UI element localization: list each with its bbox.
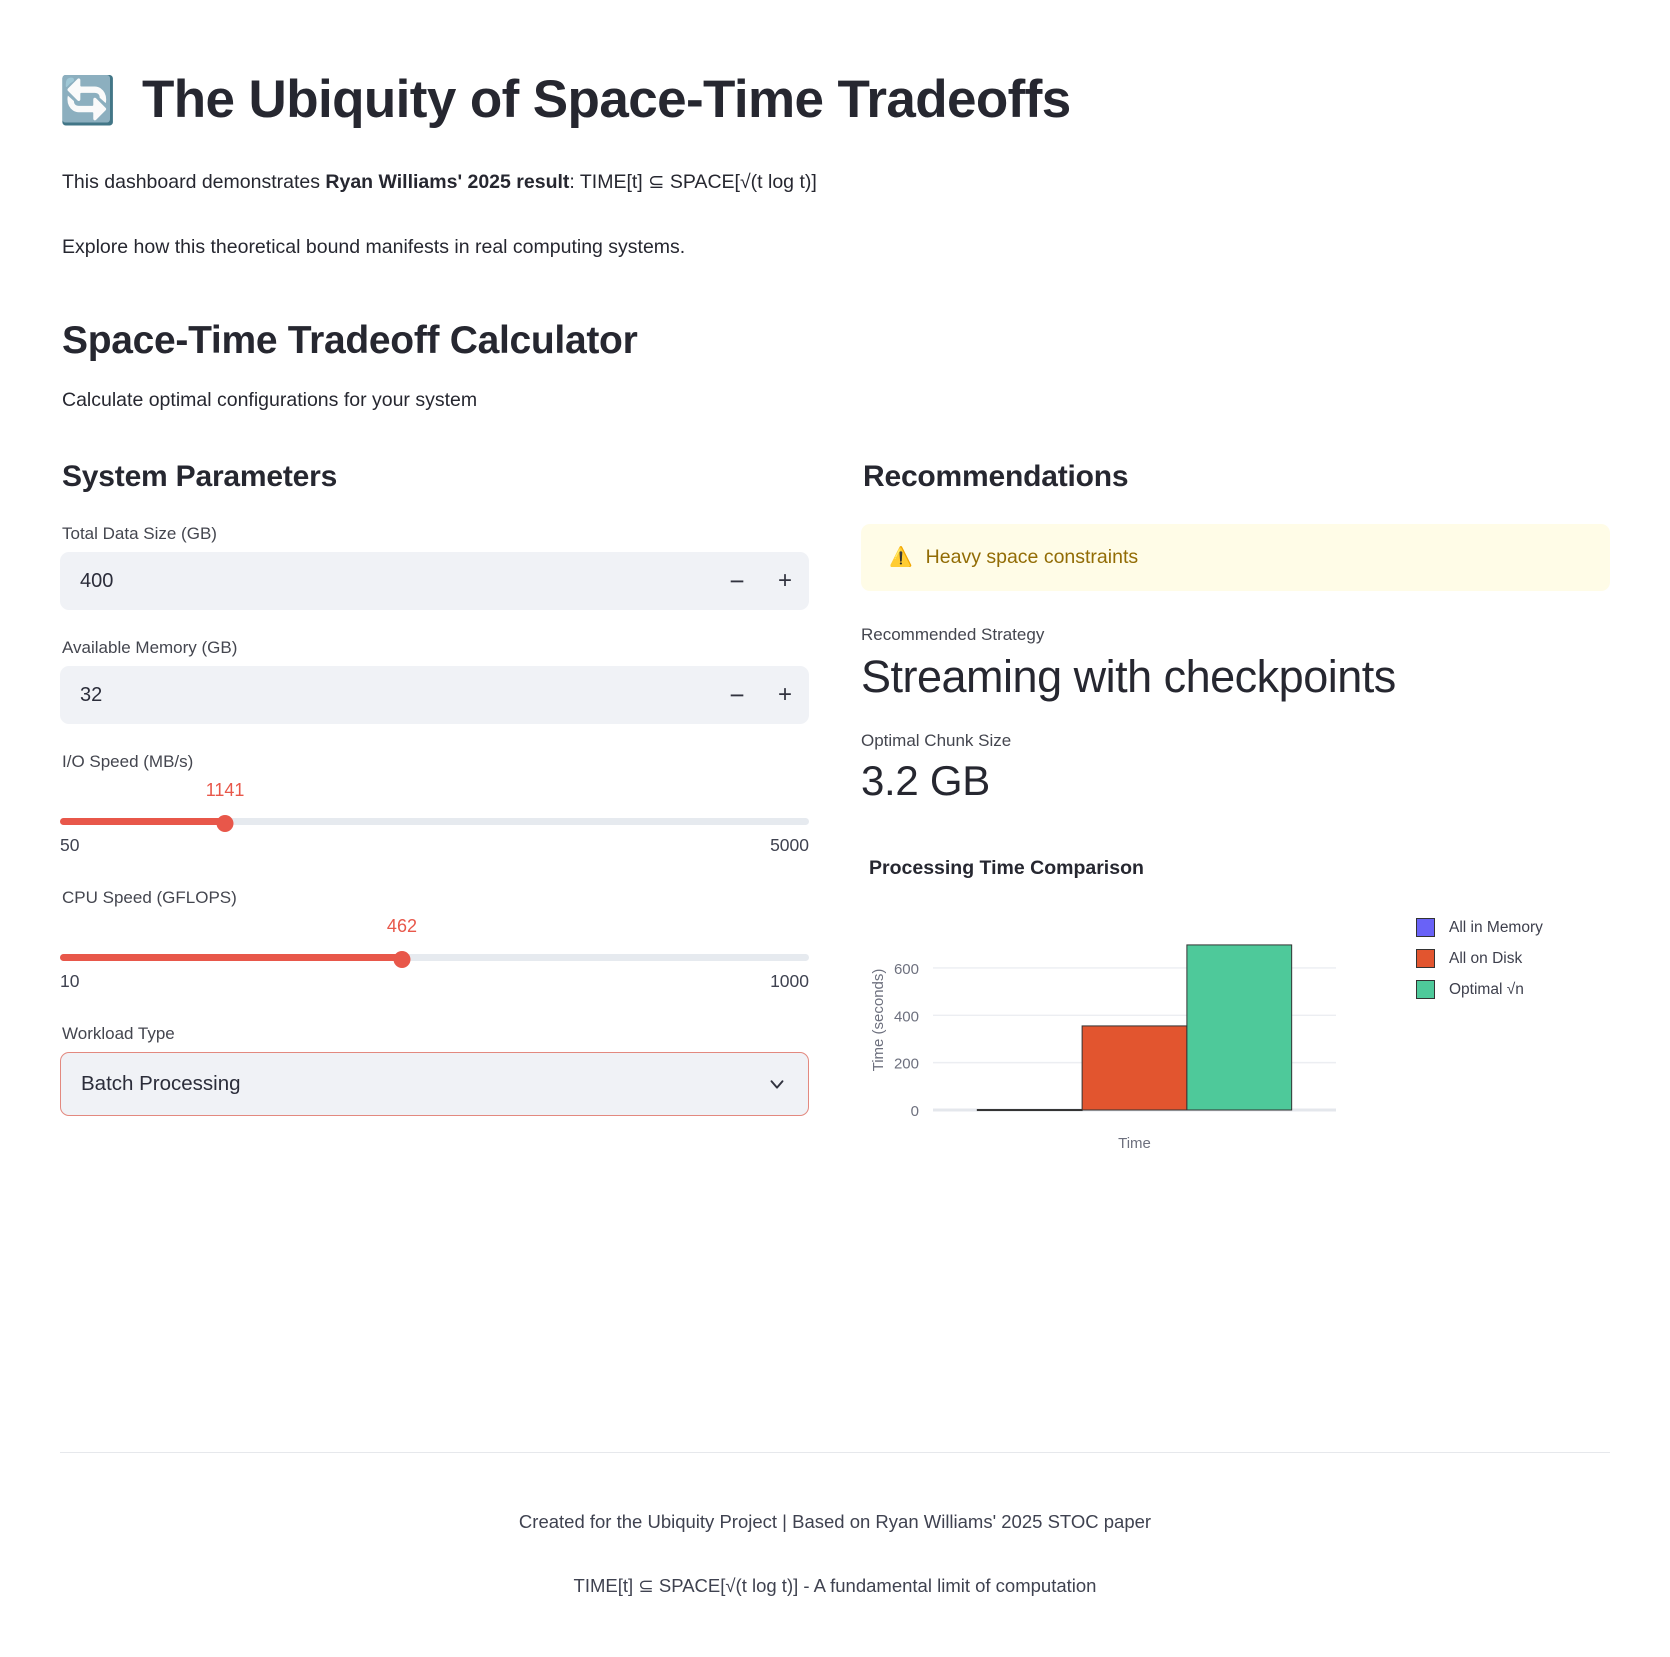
legend-label: All on Disk <box>1449 950 1522 968</box>
svg-text:200: 200 <box>894 1056 919 1073</box>
refresh-arrows-icon: 🔄 <box>60 72 116 128</box>
recommendations-column: Recommendations ⚠️ Heavy space constrain… <box>861 460 1610 1162</box>
footer-formula: TIME[t] ⊆ SPACE[√(t log t)] - A fundamen… <box>60 1575 1610 1597</box>
cpu-speed-fill <box>60 954 402 961</box>
calculator-title: Space-Time Tradeoff Calculator <box>62 319 1610 363</box>
system-parameters-column: System Parameters Total Data Size (GB) 4… <box>60 460 809 1162</box>
cpu-speed-track[interactable] <box>60 954 809 961</box>
io-speed-track[interactable] <box>60 818 809 825</box>
field-workload-type: Workload Type Batch Processing <box>60 1024 809 1116</box>
total-data-size-label: Total Data Size (GB) <box>62 524 809 544</box>
processing-time-chart-block: Processing Time Comparison 0200400600Tim… <box>861 857 1610 1162</box>
legend-label: Optimal √n <box>1449 981 1524 999</box>
field-io-speed: I/O Speed (MB/s) 1141 50 5000 <box>60 752 809 858</box>
title-row: 🔄 The Ubiquity of Space-Time Tradeoffs <box>60 70 1610 131</box>
legend-item[interactable]: All on Disk <box>1416 949 1543 968</box>
chart-area: 0200400600TimeTime (seconds) All in Memo… <box>861 912 1561 1162</box>
available-memory-label: Available Memory (GB) <box>62 638 809 658</box>
io-speed-label: I/O Speed (MB/s) <box>62 752 809 772</box>
io-speed-max-label: 5000 <box>770 835 809 856</box>
warning-triangle-icon: ⚠️ <box>889 548 913 567</box>
available-memory-input[interactable]: 32 <box>80 684 713 707</box>
intro-paragraph-2: Explore how this theoretical bound manif… <box>62 232 1610 263</box>
cpu-speed-value-bubble: 462 <box>387 916 417 937</box>
page-footer: Created for the Ubiquity Project | Based… <box>60 1452 1610 1597</box>
recommendations-title: Recommendations <box>863 460 1610 494</box>
intro-bold: Ryan Williams' 2025 result <box>325 171 569 193</box>
legend-label: All in Memory <box>1449 919 1543 937</box>
chart-title: Processing Time Comparison <box>869 857 1610 880</box>
recommended-strategy-label: Recommended Strategy <box>861 625 1610 645</box>
cpu-speed-label: CPU Speed (GFLOPS) <box>62 888 809 908</box>
io-speed-range-labels: 50 5000 <box>60 835 809 856</box>
svg-text:400: 400 <box>894 1009 919 1026</box>
footer-credit: Created for the Ubiquity Project | Based… <box>60 1511 1610 1533</box>
warning-message: Heavy space constraints <box>926 546 1138 569</box>
footer-divider <box>60 1452 1610 1453</box>
field-cpu-speed: CPU Speed (GFLOPS) 462 10 1000 <box>60 888 809 994</box>
field-total-data-size: Total Data Size (GB) 400 − + <box>60 524 809 610</box>
total-data-size-stepper[interactable]: 400 − + <box>60 552 809 610</box>
calculator-subtitle: Calculate optimal configurations for you… <box>62 389 1610 412</box>
cpu-speed-min-label: 10 <box>60 971 79 992</box>
legend-swatch-icon <box>1416 949 1435 968</box>
intro-prefix: This dashboard demonstrates <box>62 171 325 193</box>
page-header: 🔄 The Ubiquity of Space-Time Tradeoffs T… <box>0 0 1670 263</box>
legend-item[interactable]: All in Memory <box>1416 918 1543 937</box>
field-available-memory: Available Memory (GB) 32 − + <box>60 638 809 724</box>
optimal-chunk-size-value: 3.2 GB <box>861 757 1610 805</box>
legend-item[interactable]: Optimal √n <box>1416 980 1543 999</box>
svg-text:Time: Time <box>1118 1135 1151 1152</box>
intro-paragraph: This dashboard demonstrates Ryan William… <box>62 167 1610 198</box>
legend-swatch-icon <box>1416 980 1435 999</box>
cpu-speed-range-labels: 10 1000 <box>60 971 809 992</box>
cpu-speed-slider[interactable]: 462 10 1000 <box>60 916 809 994</box>
available-memory-stepper[interactable]: 32 − + <box>60 666 809 724</box>
legend-swatch-icon <box>1416 918 1435 937</box>
recommended-strategy-value: Streaming with checkpoints <box>861 651 1610 703</box>
intro-suffix: : TIME[t] ⊆ SPACE[√(t log t)] <box>569 171 816 193</box>
dashboard-page: 🔄 The Ubiquity of Space-Time Tradeoffs T… <box>0 0 1670 1657</box>
io-speed-min-label: 50 <box>60 835 79 856</box>
metric-recommended-strategy: Recommended Strategy Streaming with chec… <box>861 625 1610 703</box>
cpu-speed-thumb[interactable] <box>393 951 410 968</box>
workload-type-label: Workload Type <box>62 1024 809 1044</box>
metric-optimal-chunk-size: Optimal Chunk Size 3.2 GB <box>861 731 1610 805</box>
workload-type-select[interactable]: Batch Processing <box>60 1052 809 1116</box>
total-data-size-increment-button[interactable]: + <box>761 552 809 610</box>
optimal-chunk-size-label: Optimal Chunk Size <box>861 731 1610 751</box>
available-memory-decrement-button[interactable]: − <box>713 666 761 724</box>
svg-text:Time (seconds): Time (seconds) <box>870 969 887 1072</box>
status-badge-warning: ⚠️ Heavy space constraints <box>861 524 1610 591</box>
system-parameters-title: System Parameters <box>62 460 809 494</box>
chart-legend: All in MemoryAll on DiskOptimal √n <box>1416 918 1543 1011</box>
svg-text:0: 0 <box>911 1103 919 1120</box>
io-speed-thumb[interactable] <box>217 815 234 832</box>
page-title: The Ubiquity of Space-Time Tradeoffs <box>142 70 1071 131</box>
io-speed-slider[interactable]: 1141 50 5000 <box>60 780 809 858</box>
total-data-size-decrement-button[interactable]: − <box>713 552 761 610</box>
io-speed-fill <box>60 818 225 825</box>
workload-type-selected-value: Batch Processing <box>81 1072 766 1096</box>
calculator-section: Space-Time Tradeoff Calculator Calculate… <box>0 319 1670 1162</box>
svg-text:600: 600 <box>894 961 919 978</box>
total-data-size-input[interactable]: 400 <box>80 570 713 593</box>
cpu-speed-max-label: 1000 <box>770 971 809 992</box>
chevron-down-icon[interactable] <box>766 1073 788 1095</box>
available-memory-increment-button[interactable]: + <box>761 666 809 724</box>
io-speed-value-bubble: 1141 <box>206 780 245 801</box>
calculator-columns: System Parameters Total Data Size (GB) 4… <box>60 460 1610 1162</box>
